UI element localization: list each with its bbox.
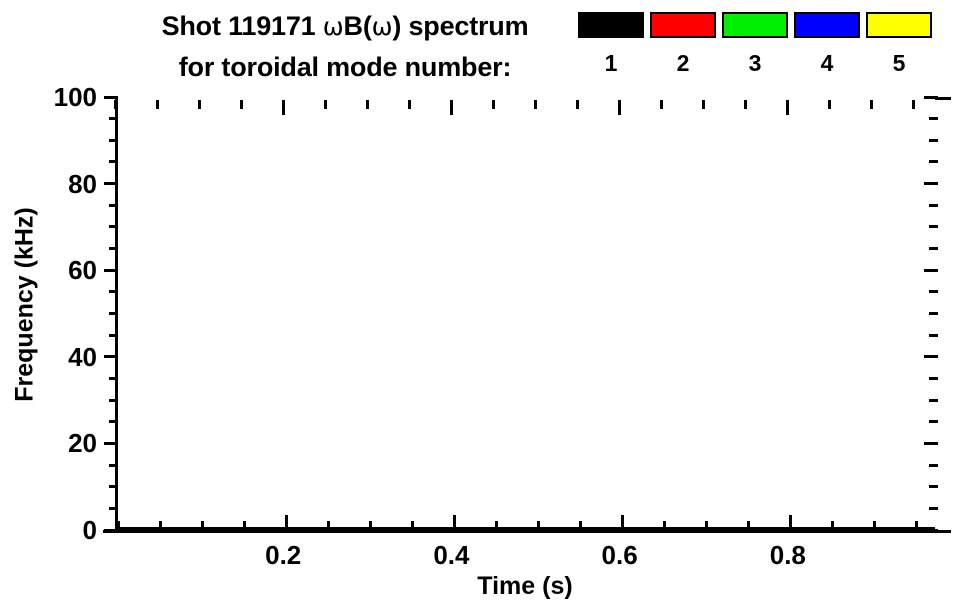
y-tick-major	[104, 442, 118, 445]
y-tick-right-major	[924, 355, 938, 358]
y-tick-right-minor	[929, 204, 938, 207]
chart-title: Shot 119171 ωB(ω) spectrum for toroidal …	[110, 6, 580, 87]
x-tick-major	[789, 515, 792, 530]
x-tick-top-minor	[198, 100, 201, 109]
legend-label-3: 3	[722, 50, 788, 76]
legend-swatch-4	[794, 12, 860, 38]
title-b-text: B(	[344, 11, 372, 41]
y-tick-minor	[109, 160, 118, 163]
y-tick-minor	[109, 334, 118, 337]
x-tick-top-minor	[240, 100, 243, 109]
y-tick-right-major	[924, 529, 938, 532]
y-tick-major	[104, 269, 118, 272]
y-tick-label: 0	[5, 517, 97, 543]
x-tick-top-minor	[534, 100, 537, 109]
y-tick-right-minor	[929, 312, 938, 315]
y-tick-minor	[109, 225, 118, 228]
x-tick-minor	[747, 521, 750, 530]
legend-entry-5: 5	[866, 12, 932, 76]
x-tick-minor	[705, 521, 708, 530]
legend-label-5: 5	[866, 50, 932, 76]
y-tick-right-minor	[929, 247, 938, 250]
x-tick-minor	[495, 521, 498, 530]
x-tick-minor	[369, 521, 372, 530]
title-spectrum-text: ) spectrum	[392, 11, 528, 41]
x-tick-top-minor	[324, 100, 327, 109]
x-tick-label: 0.4	[391, 542, 511, 568]
y-axis-title: Frequency (kHz)	[11, 185, 40, 425]
x-tick-minor	[537, 521, 540, 530]
x-axis-title: Time (s)	[115, 572, 935, 601]
y-tick-right-major	[924, 269, 938, 272]
y-tick-minor	[109, 485, 118, 488]
y-tick-major	[104, 182, 118, 185]
y-tick-minor	[109, 420, 118, 423]
legend-swatch-3	[722, 12, 788, 38]
y-tick-right-minor	[929, 464, 938, 467]
x-tick-top-minor	[744, 100, 747, 109]
x-tick-minor	[873, 521, 876, 530]
x-tick-top-major	[618, 100, 621, 115]
legend-swatch-1	[578, 12, 644, 38]
y-tick-right-major	[924, 442, 938, 445]
x-tick-top-minor	[366, 100, 369, 109]
x-tick-top-major	[450, 100, 453, 115]
y-tick-right-minor	[929, 485, 938, 488]
omega-symbol-2: ω	[372, 12, 393, 41]
y-tick-label: 100	[5, 84, 97, 110]
x-tick-top-minor	[492, 100, 495, 109]
y-tick-minor	[109, 377, 118, 380]
legend-entry-3: 3	[722, 12, 788, 76]
x-tick-top-minor	[156, 100, 159, 109]
x-tick-top-minor	[114, 100, 117, 109]
y-tick-right-major	[924, 96, 938, 99]
y-tick-right-minor	[929, 399, 938, 402]
y-tick-right-minor	[929, 225, 938, 228]
x-tick-major	[621, 515, 624, 530]
y-tick-right-minor	[929, 420, 938, 423]
y-tick-right-minor	[929, 334, 938, 337]
y-tick-minor	[109, 139, 118, 142]
chart-title-line-1: Shot 119171 ωB(ω) spectrum	[110, 6, 580, 47]
y-tick-minor	[109, 312, 118, 315]
legend-swatch-2	[650, 12, 716, 38]
y-tick-major	[104, 96, 118, 99]
x-tick-top-major	[282, 100, 285, 115]
x-tick-minor	[327, 521, 330, 530]
x-tick-minor	[117, 521, 120, 530]
y-tick-minor	[109, 507, 118, 510]
legend-label-1: 1	[578, 50, 644, 76]
x-tick-minor	[663, 521, 666, 530]
plot-area	[115, 97, 935, 530]
y-tick-minor	[109, 464, 118, 467]
x-tick-minor	[159, 521, 162, 530]
y-tick-right-minor	[929, 290, 938, 293]
chart-title-line-2: for toroidal mode number:	[110, 47, 580, 87]
axis-bottom-line	[103, 530, 951, 533]
x-tick-top-minor	[828, 100, 831, 109]
x-tick-label: 0.6	[560, 542, 680, 568]
y-tick-major	[104, 355, 118, 358]
x-tick-minor	[579, 521, 582, 530]
x-tick-minor	[915, 521, 918, 530]
x-tick-minor	[411, 521, 414, 530]
y-tick-right-minor	[929, 160, 938, 163]
x-tick-minor	[831, 521, 834, 530]
legend-swatch-5	[866, 12, 932, 38]
x-tick-top-minor	[702, 100, 705, 109]
y-tick-minor	[109, 399, 118, 402]
x-tick-top-major	[786, 100, 789, 115]
x-tick-minor	[201, 521, 204, 530]
y-tick-right-minor	[929, 377, 938, 380]
omega-symbol-1: ω	[323, 12, 344, 41]
legend: 1 2 3 4 5	[578, 12, 928, 90]
y-tick-right-minor	[929, 507, 938, 510]
y-tick-minor	[109, 204, 118, 207]
x-tick-major	[285, 515, 288, 530]
legend-entry-4: 4	[794, 12, 860, 76]
x-tick-top-minor	[660, 100, 663, 109]
x-tick-label: 0.8	[728, 542, 848, 568]
legend-label-4: 4	[794, 50, 860, 76]
y-tick-right-minor	[929, 117, 938, 120]
y-tick-minor	[109, 117, 118, 120]
y-tick-right-minor	[929, 139, 938, 142]
title-shot-text: Shot 119171	[162, 11, 323, 41]
y-tick-label: 20	[5, 430, 97, 456]
y-tick-minor	[109, 290, 118, 293]
x-tick-label: 0.2	[223, 542, 343, 568]
x-tick-top-minor	[576, 100, 579, 109]
legend-entry-1: 1	[578, 12, 644, 76]
legend-entry-2: 2	[650, 12, 716, 76]
y-tick-minor	[109, 247, 118, 250]
legend-label-2: 2	[650, 50, 716, 76]
x-tick-top-minor	[870, 100, 873, 109]
x-tick-top-minor	[912, 100, 915, 109]
x-tick-minor	[243, 521, 246, 530]
y-tick-right-major	[924, 182, 938, 185]
x-tick-major	[453, 515, 456, 530]
x-tick-top-minor	[408, 100, 411, 109]
